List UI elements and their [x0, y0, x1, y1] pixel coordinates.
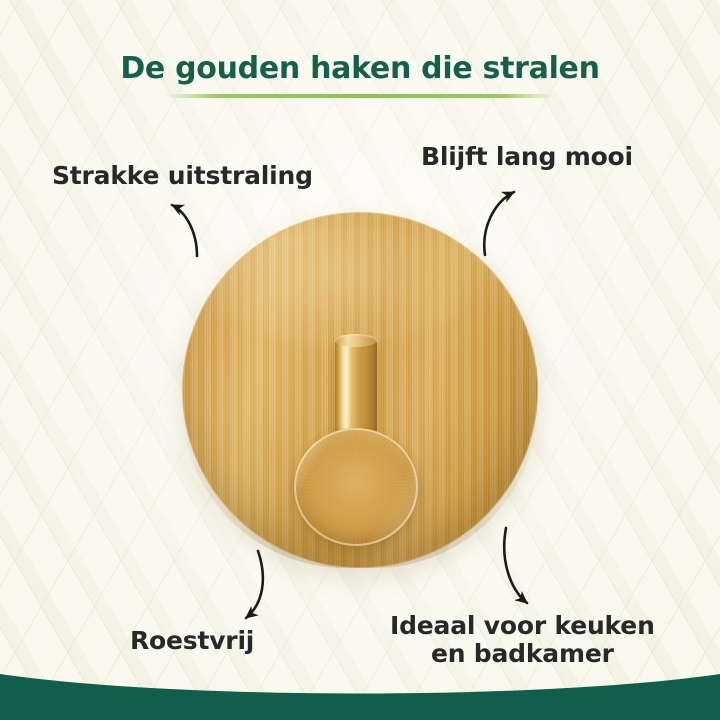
infographic-canvas: De gouden haken die stralen Strakke uits… [0, 0, 720, 720]
feature-label-bottom-right: Ideaal voor keuken en badkamer [390, 612, 655, 668]
title-underline [164, 94, 556, 98]
product-image [182, 212, 538, 568]
title-block: De gouden haken die stralen [0, 52, 720, 98]
feature-label-bottom-left: Roestvrij [130, 627, 254, 655]
banner-shape [0, 674, 720, 720]
feature-label-top-left: Strakke uitstraling [52, 162, 313, 190]
hook-stem-top-cap [335, 334, 377, 347]
hook-end-knob [294, 428, 418, 546]
feature-label-top-right: Blijft lang mooi [421, 143, 633, 171]
bottom-banner [0, 674, 720, 720]
page-title: De gouden haken die stralen [0, 52, 720, 85]
